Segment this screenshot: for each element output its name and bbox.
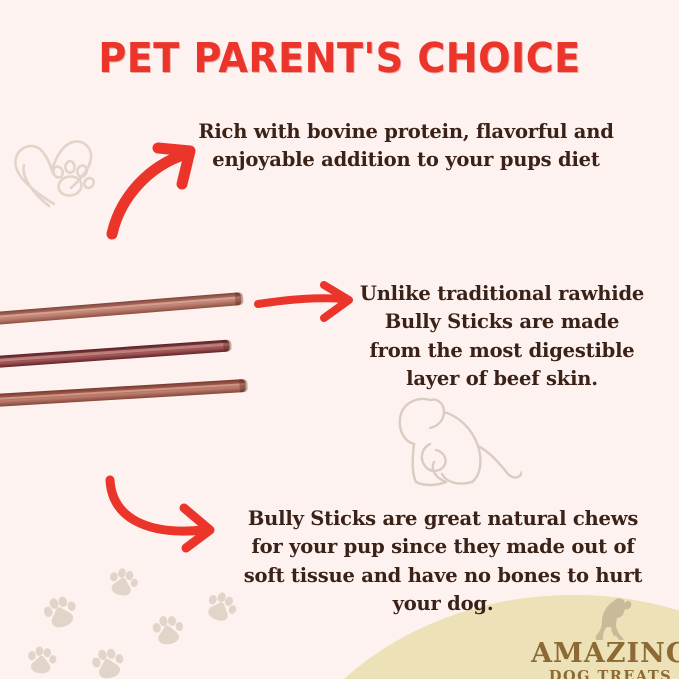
brand-subtitle: DOG TREATS <box>528 670 679 679</box>
straight-arrow-right-icon <box>252 280 358 329</box>
benefit-line: Bully Sticks are made <box>352 308 652 336</box>
benefit-line: Unlike traditional rawhide <box>352 280 652 308</box>
benefit-protein-text: Rich with bovine protein, flavorful and … <box>186 118 626 175</box>
stick-tip <box>223 339 232 352</box>
benefit-line: enjoyable addition to your pups diet <box>186 146 626 174</box>
stick-highlight <box>0 343 229 362</box>
page-title: PET PARENT'S CHOICE <box>24 34 655 82</box>
benefit-line: Bully Sticks are great natural chews <box>228 505 658 533</box>
curved-arrow-down-right-icon <box>100 472 226 561</box>
stick-highlight <box>0 296 241 319</box>
brand-name: AMAZING <box>528 640 679 667</box>
benefit-line: soft tissue and have no bones to hurt <box>228 562 658 590</box>
bully-stick-bottom <box>0 379 246 407</box>
stick-tip <box>239 379 248 392</box>
stick-highlight <box>0 383 246 401</box>
sitting-dog-silhouette-icon <box>583 596 639 642</box>
paw-print-icon <box>39 592 83 640</box>
benefit-line: layer of beef skin. <box>352 365 652 393</box>
paw-print-icon <box>104 565 141 605</box>
benefit-digestible-text: Unlike traditional rawhide Bully Sticks … <box>352 280 652 393</box>
benefit-line: for your pup since they made out of <box>228 533 658 561</box>
dog-line-art-icon <box>372 382 522 494</box>
bully-stick-top <box>0 292 242 325</box>
paw-print-icon <box>150 613 187 654</box>
bully-stick-middle <box>0 340 230 368</box>
paw-print-icon <box>88 645 129 679</box>
stick-tip <box>235 292 244 306</box>
paw-print-icon <box>25 645 58 679</box>
brand-logo: AMAZING DOG TREATS <box>528 596 679 679</box>
benefit-line: from the most digestible <box>352 337 652 365</box>
poster-canvas: PET PARENT'S CHOICE <box>0 0 679 679</box>
benefit-line: Rich with bovine protein, flavorful and <box>186 118 626 146</box>
